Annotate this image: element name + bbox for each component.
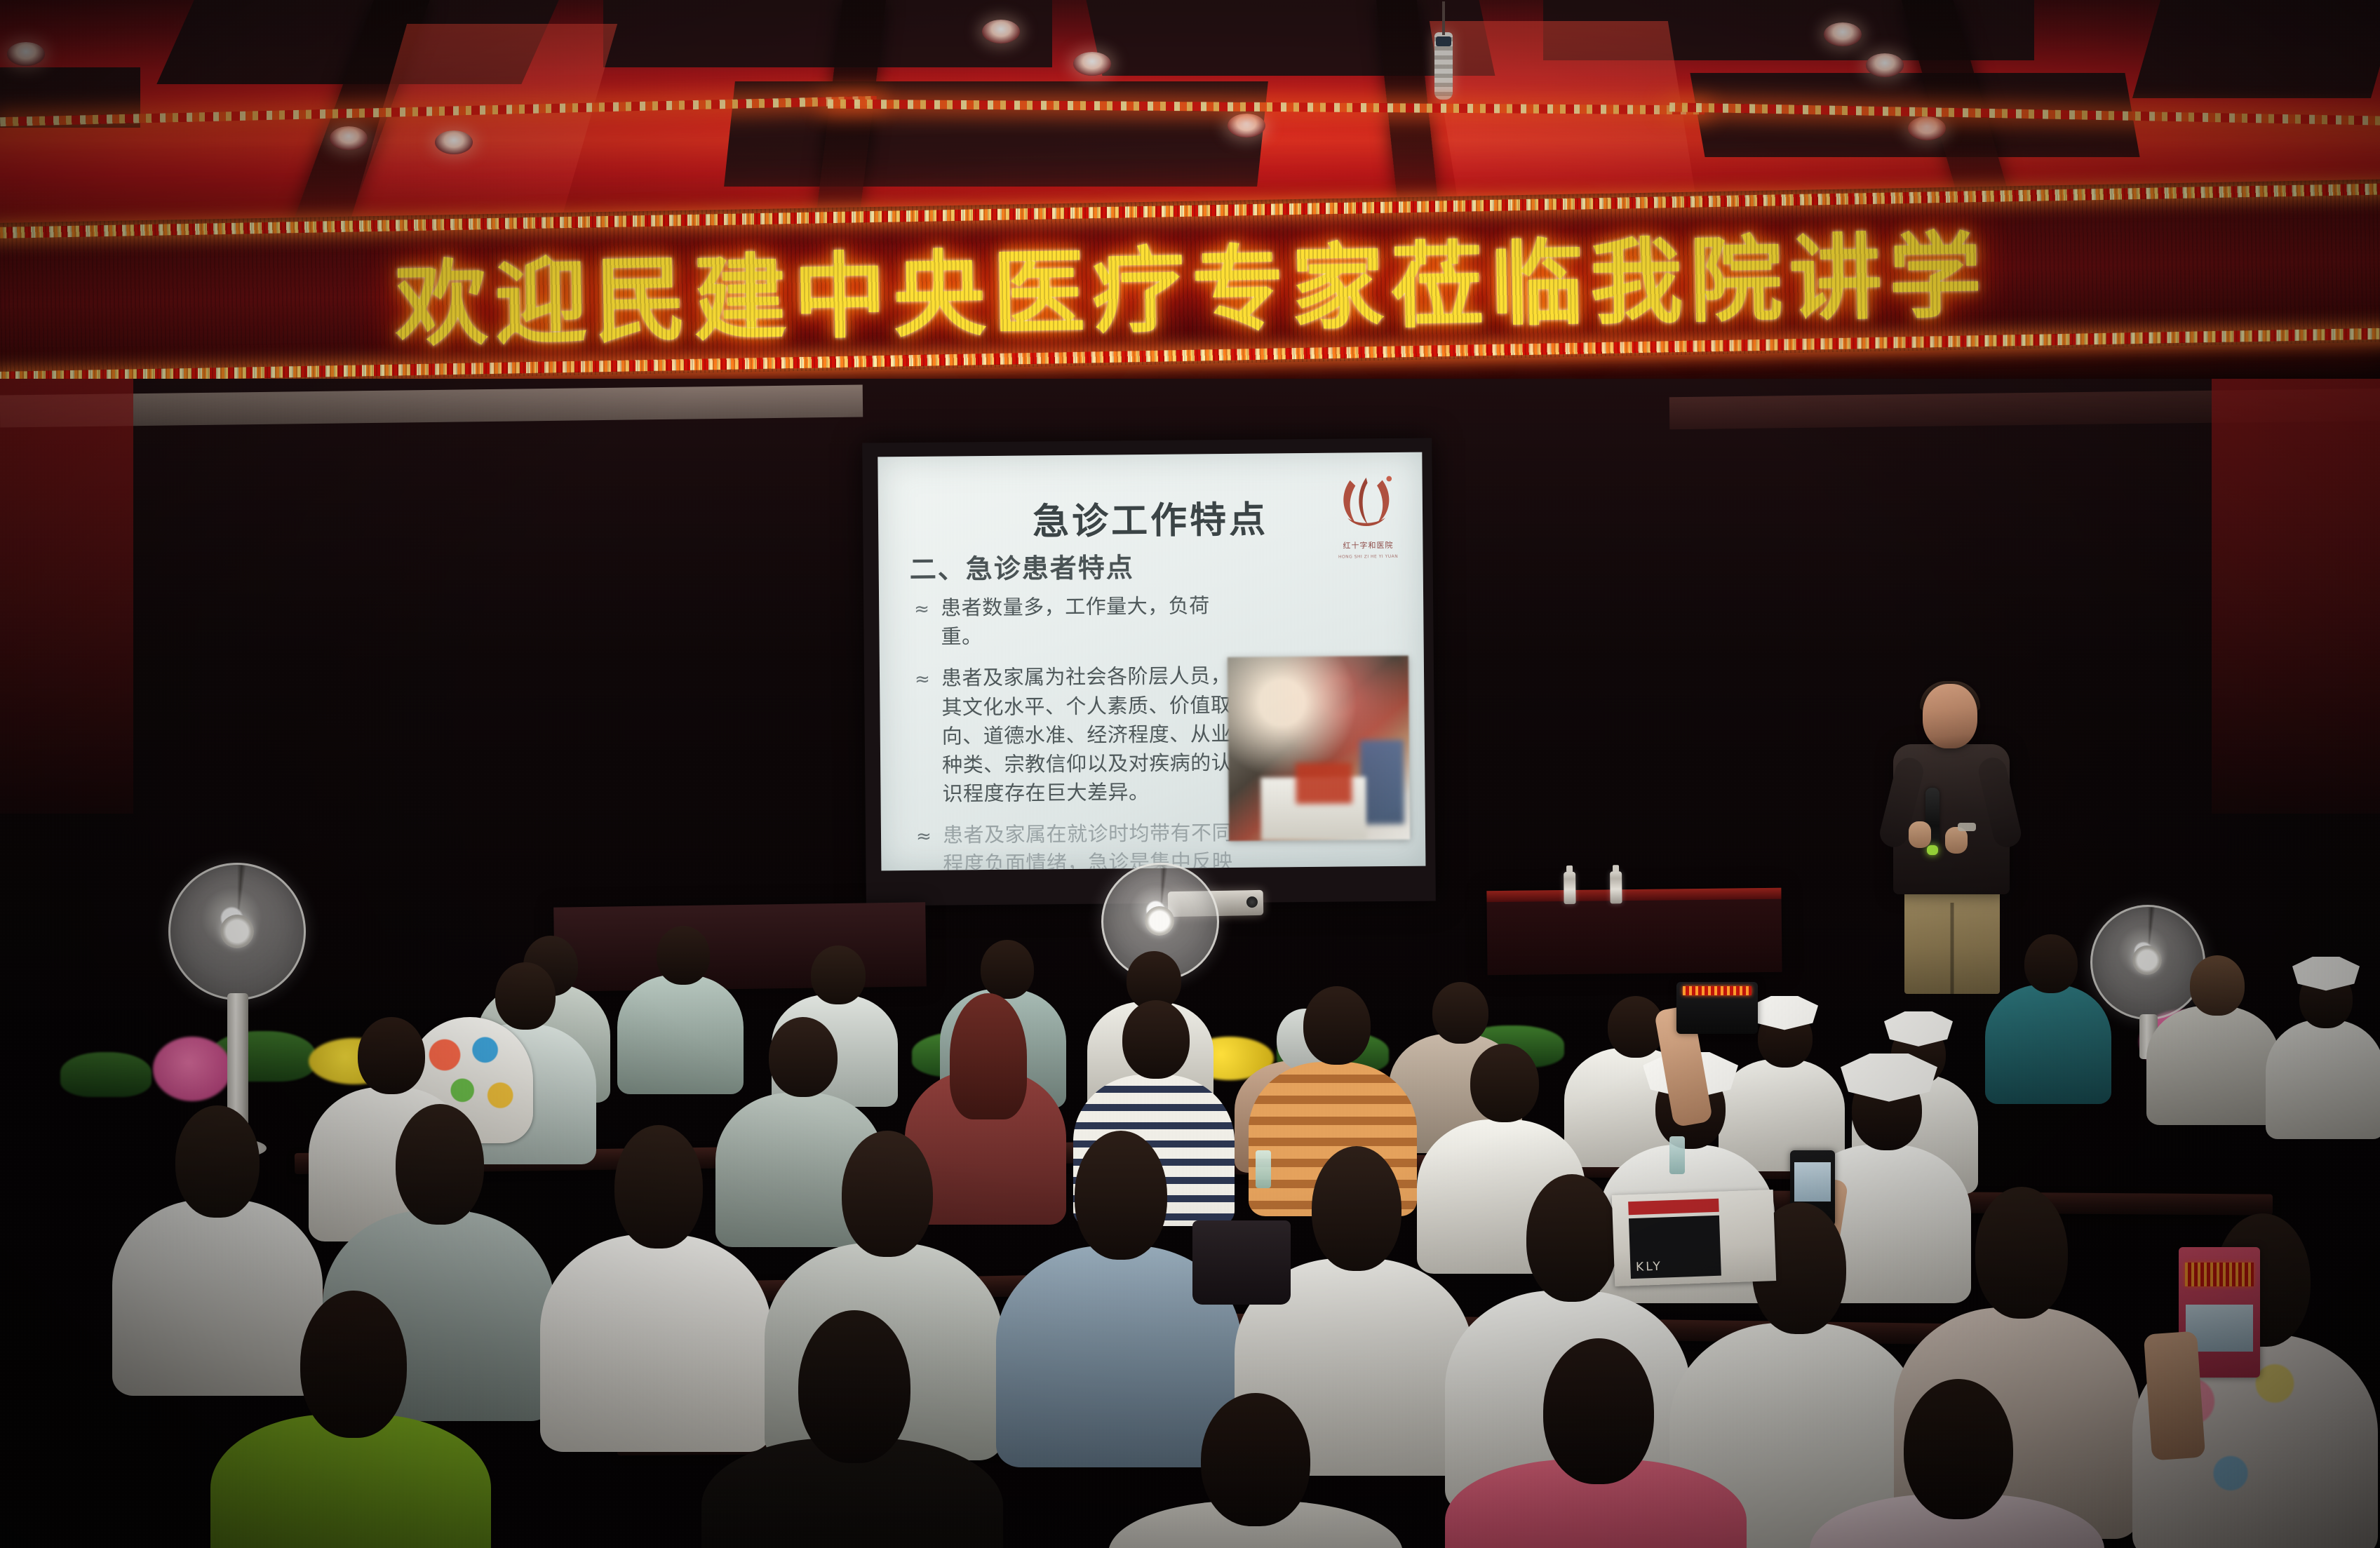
water-bottle <box>1610 871 1622 903</box>
wall-red-glow-right <box>2212 379 2380 814</box>
pendant-bulb-icon <box>1434 32 1453 100</box>
handbag <box>1192 1220 1291 1305</box>
auditorium-photo: 欢迎民建中央医疗专家莅临我院讲学 急诊工作特点 二、急诊患者特点 红十字和医院 … <box>0 0 2380 1548</box>
ceiling-downlight <box>330 126 368 150</box>
list-item <box>2146 940 2280 1115</box>
bullet-marker-icon: ≈ <box>914 597 930 623</box>
magazine-on-bench: KLY <box>1612 1190 1776 1286</box>
hospital-logo-icon: 红十字和医院 HONG SHI ZI HE YI YUAN <box>1331 471 1405 554</box>
ceiling-downlight <box>982 20 1020 43</box>
logo-caption: 红十字和医院 <box>1331 539 1404 551</box>
water-bottle-on-bench <box>1256 1150 1271 1188</box>
slide-surface: 急诊工作特点 二、急诊患者特点 红十字和医院 HONG SHI ZI HE YI… <box>878 452 1425 871</box>
smartphone-camera[interactable] <box>1676 982 1758 1034</box>
bullet-text: 患者数量多，工作量大，负荷重。 <box>941 593 1210 649</box>
raised-arm <box>2144 1331 2205 1461</box>
wristwatch <box>1958 823 1976 831</box>
list-item <box>701 1305 1003 1548</box>
ceiling-downlight <box>1228 114 1265 137</box>
ceiling-downlight <box>1073 52 1111 76</box>
projection-screen: 急诊工作特点 二、急诊患者特点 红十字和医院 HONG SHI ZI HE YI… <box>862 438 1436 906</box>
logo-caption-pinyin: HONG SHI ZI HE YI YUAN <box>1332 554 1405 560</box>
green-shrub <box>60 1052 152 1097</box>
wall-red-glow-left <box>0 379 133 814</box>
ceiling-downlight <box>1824 22 1862 46</box>
slide-bullet: ≈ 患者及家属为社会各阶层人员，其文化水平、个人素质、价值取向、道德水准、经济程… <box>910 661 1242 809</box>
bullet-marker-icon: ≈ <box>915 667 931 693</box>
ceiling-downlight <box>7 42 45 66</box>
slide-bullet: ≈ 患者数量多，工作量大，负荷重。 <box>910 591 1240 652</box>
list-item <box>1445 1333 1747 1548</box>
list-item <box>210 1284 491 1548</box>
head-table <box>1486 888 1782 975</box>
magazine-cover-text: KLY <box>1636 1260 1662 1274</box>
ceiling-downlight <box>435 130 473 154</box>
water-bottle <box>1564 872 1575 904</box>
slide-subtitle: 二、急诊患者特点 <box>909 546 1134 586</box>
list-item <box>1810 1375 2104 1548</box>
bullet-marker-icon: ≈ <box>916 824 932 850</box>
slide-bullet-list: ≈ 患者数量多，工作量大，负荷重。 ≈ 患者及家属为社会各阶层人员，其文化水平、… <box>910 591 1242 870</box>
bullet-text: 患者及家属为社会各阶层人员，其文化水平、个人素质、价值取向、道德水准、经济程度、… <box>941 664 1232 805</box>
ceiling-downlight <box>1908 116 1946 140</box>
list-item <box>1108 1389 1403 1548</box>
slide-photo <box>1228 656 1410 841</box>
list-item <box>2266 954 2380 1129</box>
list-item <box>1985 919 2111 1094</box>
water-bottle-on-bench <box>1669 1136 1685 1174</box>
ceiling-downlight <box>1866 53 1904 77</box>
